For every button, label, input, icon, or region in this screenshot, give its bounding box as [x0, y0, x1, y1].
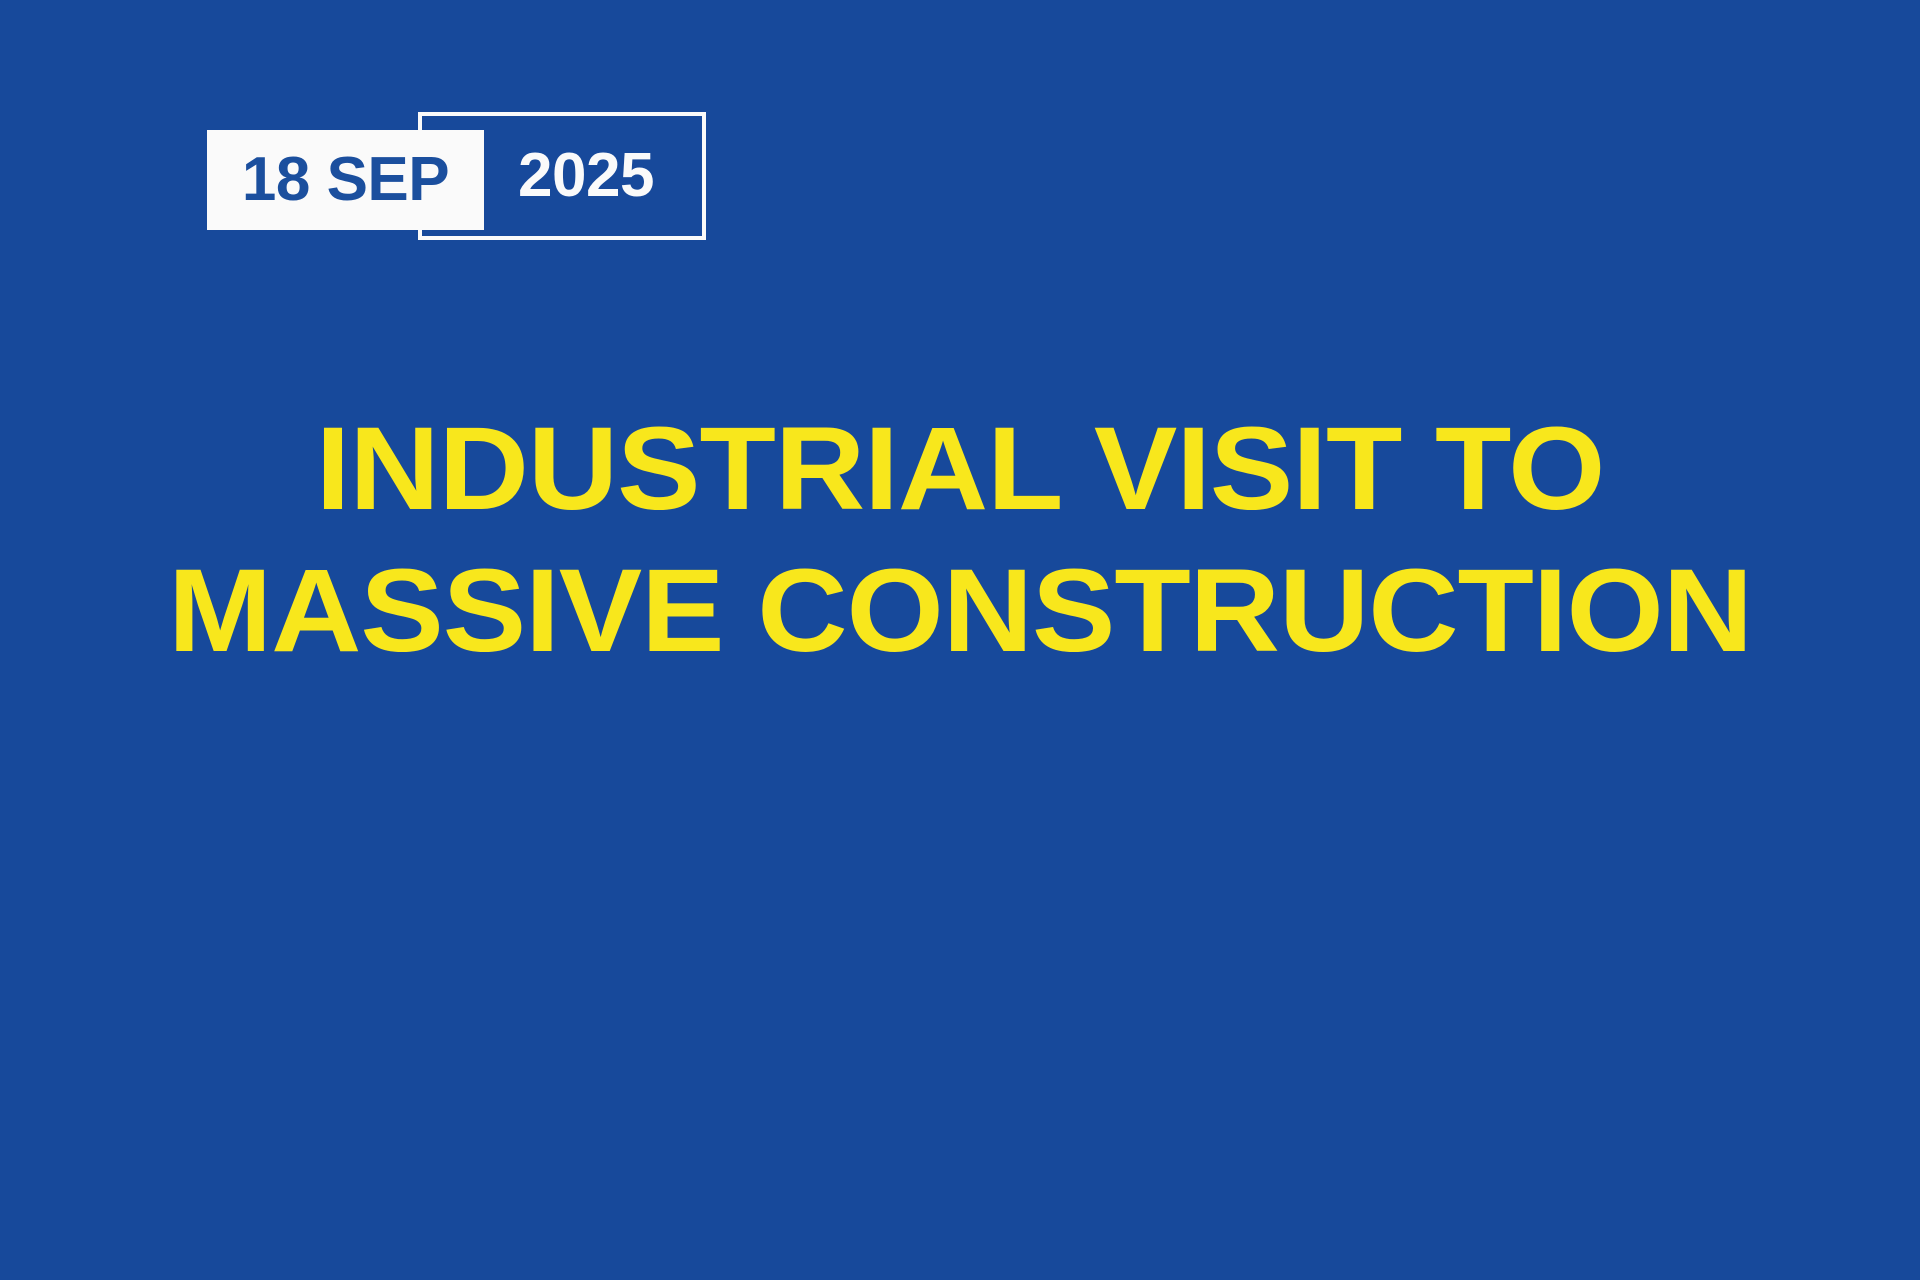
date-day-month-text: 18 SEP	[242, 149, 449, 211]
poster-canvas: 2025 18 SEP INDUSTRIAL VISIT TO MASSIVE …	[0, 0, 1920, 1280]
date-day-month-box: 18 SEP	[207, 130, 484, 230]
date-badge: 2025 18 SEP	[207, 112, 727, 252]
date-year-text: 2025	[518, 145, 654, 207]
title-line-2: MASSIVE CONSTRUCTION	[0, 540, 1920, 682]
page-title: INDUSTRIAL VISIT TO MASSIVE CONSTRUCTION	[0, 398, 1920, 682]
title-line-1: INDUSTRIAL VISIT TO	[0, 398, 1920, 540]
